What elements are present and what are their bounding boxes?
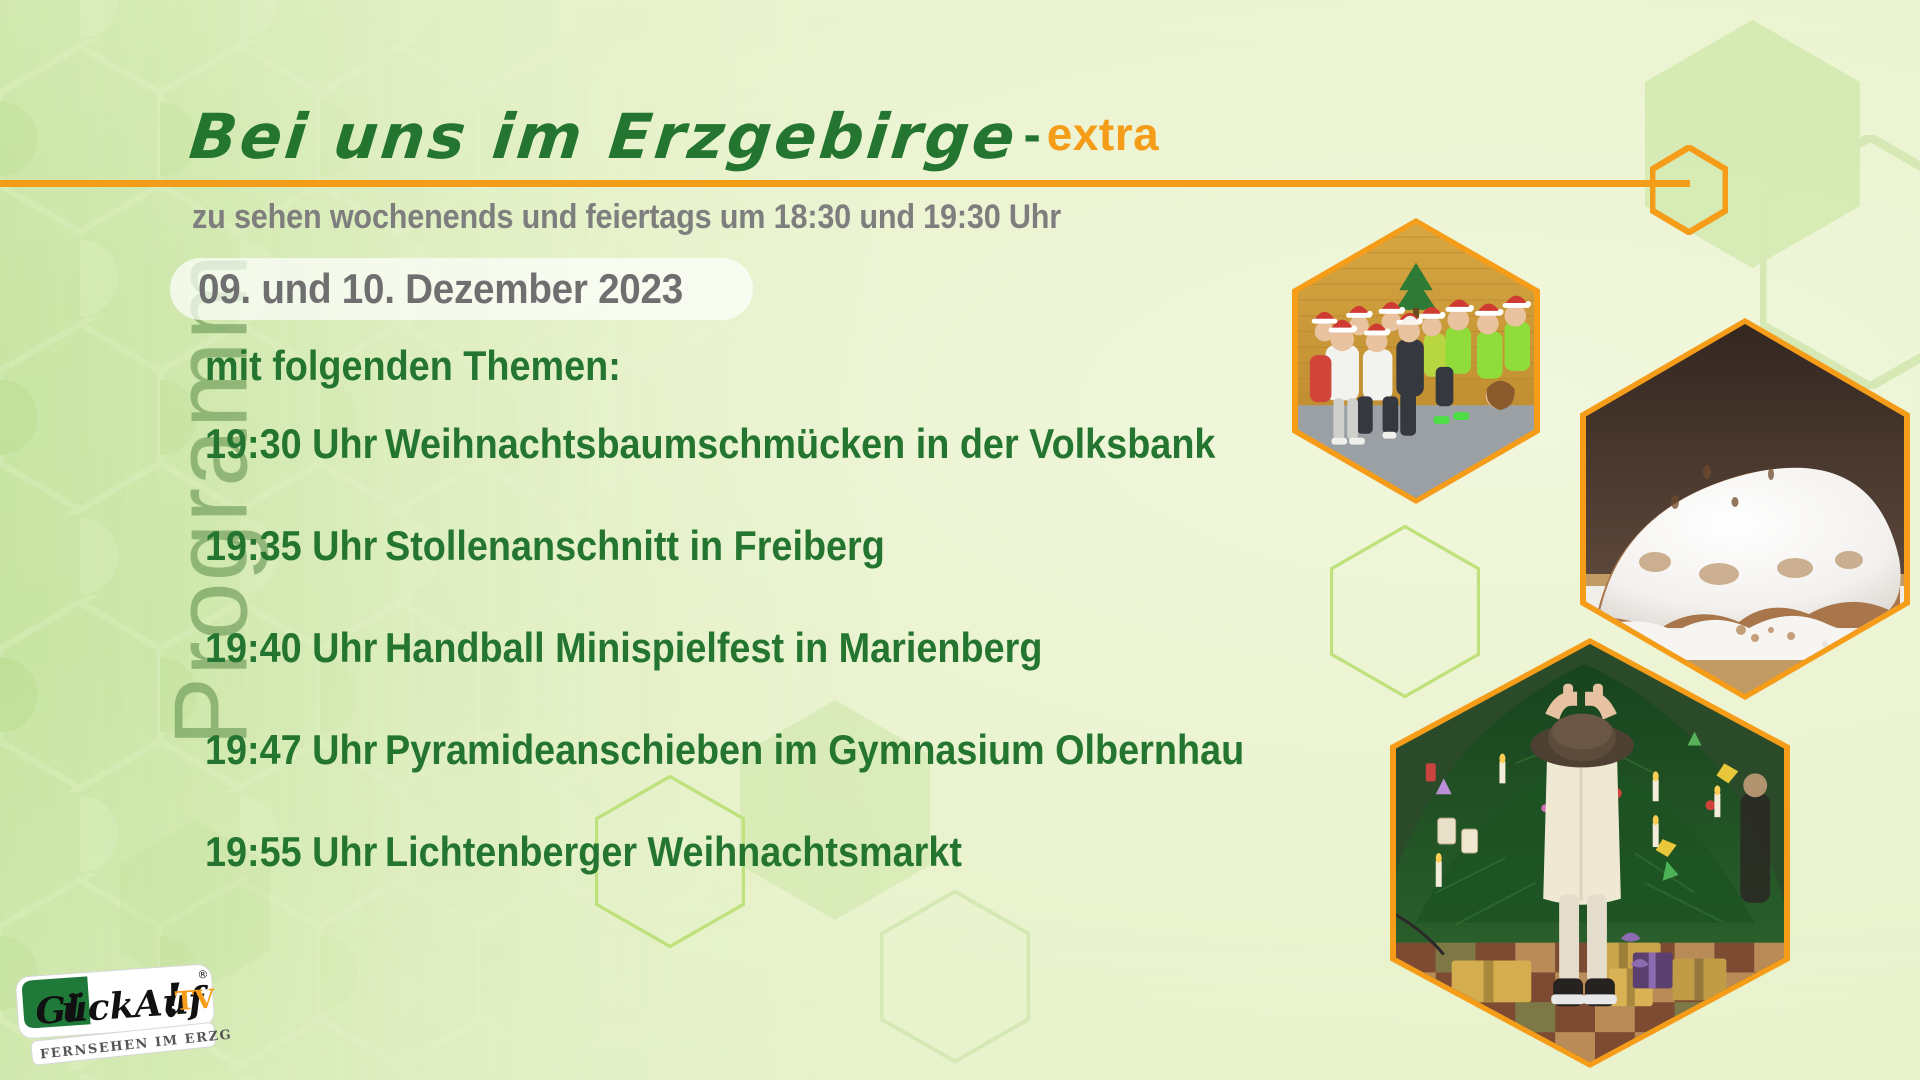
orange-divider-rule [0, 180, 1690, 187]
program-time: 19:30 Uhr [205, 420, 367, 468]
program-time: 19:35 Uhr [205, 522, 367, 570]
program-row: 19:30 Uhr Weihnachtsbaumschmücken in der… [205, 420, 1385, 522]
show-title: Bei uns im Erzgebirge-extra [190, 100, 1159, 173]
orange-hexagon-end-cap-icon [1650, 145, 1728, 223]
program-time: 19:47 Uhr [205, 726, 367, 774]
program-row: 19:40 Uhr Handball Minispielfest in Mari… [205, 624, 1385, 726]
glueckauf-tv-logo: Gl ückAuf ! TV ® FERNSEHEN IM ERZGEBIRGE [14, 962, 230, 1068]
program-row: 19:47 Uhr Pyramideanschieben im Gymnasiu… [205, 726, 1385, 828]
broadcast-program-slide: Programm Bei uns im Erzgebirge-extra zu … [0, 0, 1920, 1080]
program-title: Handball Minispielfest in Marienberg [385, 624, 1285, 672]
program-title: Lichtenberger Weihnachtsmarkt [385, 828, 1285, 876]
broadcast-times-subtitle: zu sehen wochenends und feiertags um 18:… [192, 198, 1061, 237]
program-row: 19:35 Uhr Stollenanschnitt in Freiberg [205, 522, 1385, 624]
program-title: Stollenanschnitt in Freiberg [385, 522, 1285, 570]
program-title: Weihnachtsbaumschmücken in der Volksbank [385, 420, 1285, 468]
svg-text:TV: TV [174, 984, 216, 1017]
show-title-dash: - [1017, 105, 1046, 165]
date-text: 09. und 10. Dezember 2023 [198, 265, 683, 313]
show-title-extra: extra [1047, 107, 1159, 161]
themes-intro: mit folgenden Themen: [205, 342, 621, 390]
program-time: 19:40 Uhr [205, 624, 367, 672]
program-list: 19:30 Uhr Weihnachtsbaumschmücken in der… [205, 420, 1385, 930]
show-title-main: Bei uns im Erzgebirge [186, 100, 1021, 173]
program-time: 19:55 Uhr [205, 828, 367, 876]
svg-text:®: ® [197, 968, 209, 982]
date-badge: 09. und 10. Dezember 2023 [170, 258, 753, 320]
program-row: 19:55 Uhr Lichtenberger Weihnachtsmarkt [205, 828, 1385, 930]
program-title: Pyramideanschieben im Gymnasium Olbernha… [385, 726, 1285, 774]
